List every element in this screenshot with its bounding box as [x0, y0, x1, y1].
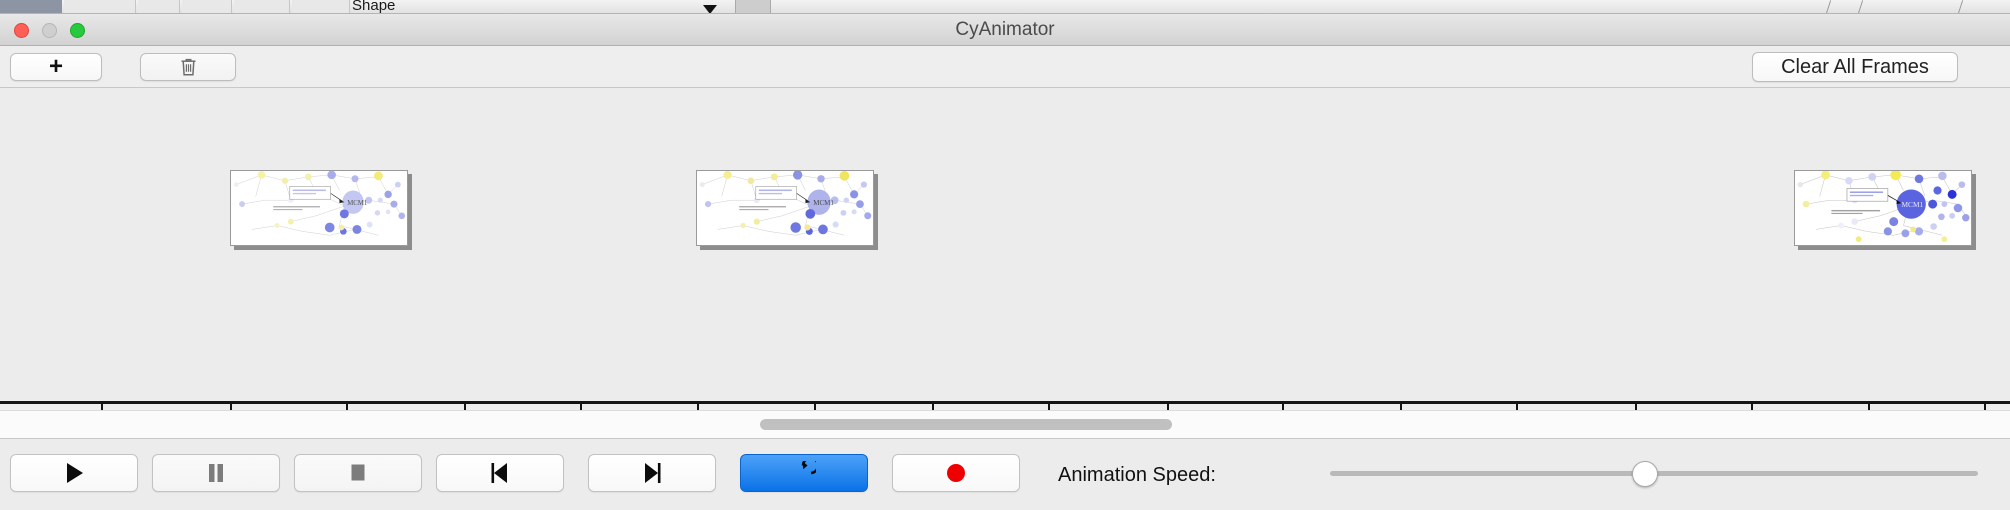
timeline-axis-line	[0, 401, 2010, 404]
frame-thumbnail[interactable]: MCM1	[1794, 170, 1972, 246]
plus-icon: +	[49, 55, 63, 79]
skip-to-first-button[interactable]	[436, 454, 564, 492]
background-window-strip: Shape	[0, 0, 2010, 14]
background-dropdown-arrow-icon	[703, 5, 717, 14]
background-toolbar-segment	[292, 0, 350, 14]
animation-speed-slider-thumb[interactable]	[1632, 461, 1658, 487]
background-toolbar-button	[735, 0, 771, 14]
window-titlebar[interactable]: CyAnimator	[0, 14, 2010, 46]
background-toolbar-segment	[182, 0, 232, 14]
delete-frame-button[interactable]	[140, 53, 236, 81]
svg-text:MCM1: MCM1	[347, 200, 367, 207]
stop-icon	[348, 462, 368, 484]
timeline-panel[interactable]: MCM1	[0, 88, 2010, 410]
svg-text:MCM1: MCM1	[813, 199, 834, 207]
add-frame-button[interactable]: +	[10, 53, 102, 81]
background-toolbar-segment	[234, 0, 290, 14]
pause-button[interactable]	[152, 454, 280, 492]
play-button[interactable]	[10, 454, 138, 492]
trash-icon	[180, 57, 197, 77]
skip-previous-icon	[489, 461, 511, 485]
record-button[interactable]	[892, 454, 1020, 492]
play-icon	[63, 461, 85, 485]
background-window-dark-segment	[0, 0, 62, 14]
loop-icon	[792, 461, 816, 485]
stop-button[interactable]	[294, 454, 422, 492]
frame-thumbnail[interactable]: MCM1	[696, 170, 874, 246]
network-graph-preview: MCM1	[231, 171, 407, 245]
playback-controls: Animation Speed:	[0, 438, 2010, 510]
loop-button[interactable]	[740, 454, 868, 492]
record-icon	[944, 461, 968, 485]
horizontal-scrollbar-thumb[interactable]	[760, 419, 1172, 430]
network-graph-preview: MCM1	[1795, 171, 1971, 245]
background-toolbar-segment	[64, 0, 136, 14]
background-divider	[1958, 0, 1963, 14]
skip-to-last-button[interactable]	[588, 454, 716, 492]
background-toolbar-segment	[138, 0, 180, 14]
background-divider	[1858, 0, 1863, 14]
background-window-shape-label: Shape	[352, 0, 395, 14]
skip-next-icon	[641, 461, 663, 485]
svg-text:MCM1: MCM1	[1902, 200, 1924, 209]
pause-icon	[206, 461, 226, 485]
clear-all-frames-button[interactable]: Clear All Frames	[1752, 52, 1958, 82]
network-graph-preview: MCM1	[697, 171, 873, 245]
toolbar: + Clear All Frames	[0, 46, 2010, 88]
background-divider	[1826, 0, 1831, 14]
clear-all-frames-label: Clear All Frames	[1781, 56, 1929, 79]
window-title: CyAnimator	[0, 19, 2010, 41]
horizontal-scrollbar-track[interactable]	[0, 410, 2010, 438]
animation-speed-label: Animation Speed:	[1058, 464, 1216, 487]
frame-thumbnail[interactable]: MCM1	[230, 170, 408, 246]
